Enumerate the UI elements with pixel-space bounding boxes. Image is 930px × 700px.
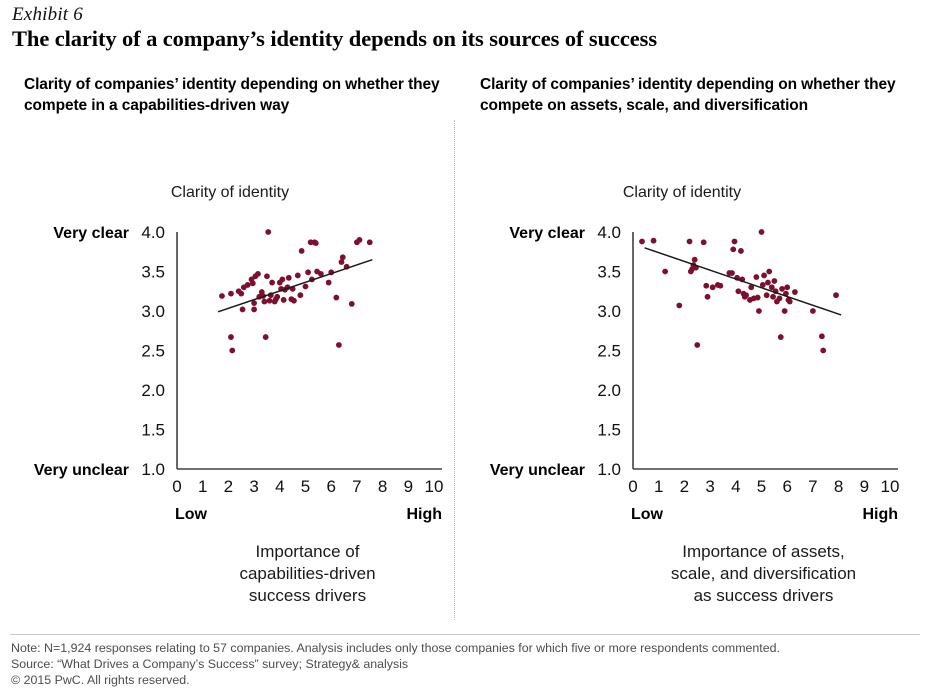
x-tick-label: 9 [404, 477, 413, 496]
panel-subtitle-right: Clarity of companies’ identity depending… [480, 74, 900, 116]
scatter-plot-right: 1.01.52.02.53.03.54.0012345678910Very cl… [468, 222, 908, 512]
data-point [820, 348, 826, 354]
y-tick-label: 1.5 [141, 421, 165, 440]
data-point [761, 273, 767, 279]
y-tick-label: 4.0 [141, 223, 165, 242]
data-point [810, 308, 816, 314]
chart-panel-capabilities: Clarity of companies’ identity depending… [12, 74, 452, 622]
data-point [367, 239, 373, 245]
y-tick-label: 3.5 [141, 263, 165, 282]
data-point [357, 237, 363, 243]
data-point [738, 248, 744, 254]
data-point [730, 246, 736, 252]
data-point [305, 269, 311, 275]
panel-divider [454, 120, 455, 620]
x-tick-label: 2 [680, 477, 689, 496]
data-point [340, 254, 346, 260]
y-tick-label: 2.5 [141, 342, 165, 361]
chart-panel-assets: Clarity of companies’ identity depending… [468, 74, 908, 622]
data-point [639, 239, 645, 245]
data-point [333, 295, 339, 301]
trendline [645, 248, 842, 315]
exhibit-label: Exhibit 6 [12, 4, 83, 26]
x-axis-caption-line: scale, and diversification [671, 564, 856, 583]
x-tick-label: 10 [425, 477, 444, 496]
x-tick-label: 1 [654, 477, 663, 496]
y-tick-label: 3.0 [141, 302, 165, 321]
data-point [263, 334, 269, 340]
data-point [326, 280, 332, 286]
x-tick-label: 8 [378, 477, 387, 496]
data-point [765, 280, 771, 286]
x-tick-label: 5 [301, 477, 310, 496]
x-tick-label: 0 [172, 477, 181, 496]
data-point [251, 307, 257, 313]
data-point [286, 275, 292, 281]
x-tick-label: 6 [782, 477, 791, 496]
data-point [705, 294, 711, 300]
scatter-svg-left: 1.01.52.02.53.03.54.0012345678910Very cl… [12, 222, 452, 512]
data-point [245, 282, 251, 288]
data-point [651, 238, 657, 244]
y-axis-bottom-label: Very unclear [34, 462, 129, 479]
data-point [228, 334, 234, 340]
data-point [771, 278, 777, 284]
data-point [701, 239, 707, 245]
data-point-group [219, 229, 373, 353]
data-point [274, 294, 280, 300]
y-tick-label: 2.5 [597, 342, 621, 361]
scatter-plot-left: 1.01.52.02.53.03.54.0012345678910Very cl… [12, 222, 452, 512]
x-axis-caption-line: Importance of assets, [682, 542, 845, 561]
footnote-copyright: © 2015 PwC. All rights reserved. [11, 673, 190, 688]
data-point [313, 240, 319, 246]
data-point [265, 229, 271, 235]
data-point [756, 308, 762, 314]
data-point [291, 298, 297, 304]
data-point [770, 294, 776, 300]
data-point [819, 333, 825, 339]
data-point [735, 288, 741, 294]
x-tick-label: 5 [757, 477, 766, 496]
scatter-svg-right: 1.01.52.02.53.03.54.0012345678910Very cl… [468, 222, 908, 512]
footer-divider [10, 634, 920, 635]
x-tick-label: 8 [834, 477, 843, 496]
data-point [710, 284, 716, 290]
chart-axis-title-right: Clarity of identity [482, 184, 882, 202]
data-point [729, 270, 735, 276]
x-tick-label: 4 [731, 477, 740, 496]
data-point [219, 293, 225, 299]
data-point [240, 307, 246, 313]
x-axis-low-label: Low [631, 506, 664, 523]
data-point [717, 283, 723, 289]
x-axis-caption-line: as success drivers [694, 586, 834, 605]
x-tick-label: 4 [275, 477, 284, 496]
data-point [662, 269, 668, 275]
x-axis-high-label: High [862, 506, 898, 523]
data-point [687, 239, 693, 245]
data-point [787, 299, 793, 305]
x-tick-label: 3 [249, 477, 258, 496]
y-tick-label: 1.0 [597, 460, 621, 479]
x-axis-caption-line: capabilities-driven [239, 564, 375, 583]
data-point [250, 280, 256, 286]
x-tick-label: 3 [705, 477, 714, 496]
data-point [782, 308, 788, 314]
data-point [779, 286, 785, 292]
footnote-source: Source: “What Drives a Company’s Success… [11, 657, 408, 672]
data-point [261, 299, 267, 305]
data-point [778, 334, 784, 340]
data-point-group [639, 229, 839, 353]
panel-subtitle-left: Clarity of companies’ identity depending… [24, 74, 444, 116]
x-tick-label: 6 [326, 477, 335, 496]
data-point [759, 229, 765, 235]
x-axis-high-label: High [406, 506, 442, 523]
y-tick-label: 2.0 [141, 381, 165, 400]
data-point [766, 269, 772, 275]
data-point [777, 295, 783, 301]
y-tick-label: 1.0 [141, 460, 165, 479]
y-tick-label: 3.0 [597, 302, 621, 321]
data-point [692, 257, 698, 263]
data-point [792, 289, 798, 295]
data-point [349, 301, 355, 307]
data-point [732, 239, 738, 245]
x-tick-label: 7 [352, 477, 361, 496]
data-point [676, 303, 682, 309]
data-point [703, 283, 709, 289]
x-tick-label: 0 [628, 477, 637, 496]
data-point [784, 284, 790, 290]
data-point [229, 348, 235, 354]
data-point [238, 291, 244, 297]
data-point [833, 292, 839, 298]
data-point [269, 280, 275, 286]
page-title: The clarity of a company’s identity depe… [12, 26, 657, 52]
y-tick-label: 2.0 [597, 381, 621, 400]
data-point [755, 295, 761, 301]
y-axis-bottom-label: Very unclear [490, 462, 585, 479]
x-tick-label: 1 [198, 477, 207, 496]
data-point [279, 277, 285, 283]
data-point [694, 342, 700, 348]
data-point [753, 274, 759, 280]
data-point [299, 248, 305, 254]
y-tick-label: 1.5 [597, 421, 621, 440]
footnote-note: Note: N=1,924 responses relating to 57 c… [11, 641, 780, 656]
data-point [255, 271, 261, 277]
data-point [267, 298, 273, 304]
y-tick-label: 3.5 [597, 263, 621, 282]
x-axis-low-label: Low [175, 506, 208, 523]
y-axis-top-label: Very clear [53, 225, 129, 242]
x-axis-caption-line: success drivers [249, 586, 366, 605]
x-tick-label: 2 [224, 477, 233, 496]
data-point [228, 291, 234, 297]
data-point [743, 292, 749, 298]
x-tick-label: 9 [860, 477, 869, 496]
data-point [336, 342, 342, 348]
data-point [295, 273, 301, 279]
y-tick-label: 4.0 [597, 223, 621, 242]
y-axis-top-label: Very clear [509, 225, 585, 242]
data-point [764, 292, 770, 298]
data-point [264, 273, 270, 279]
x-axis-caption-line: Importance of [256, 542, 360, 561]
data-point [281, 297, 287, 303]
x-tick-label: 7 [808, 477, 817, 496]
data-point [303, 284, 309, 290]
x-tick-label: 10 [881, 477, 900, 496]
chart-axis-title-left: Clarity of identity [30, 184, 430, 202]
data-point [297, 292, 303, 298]
